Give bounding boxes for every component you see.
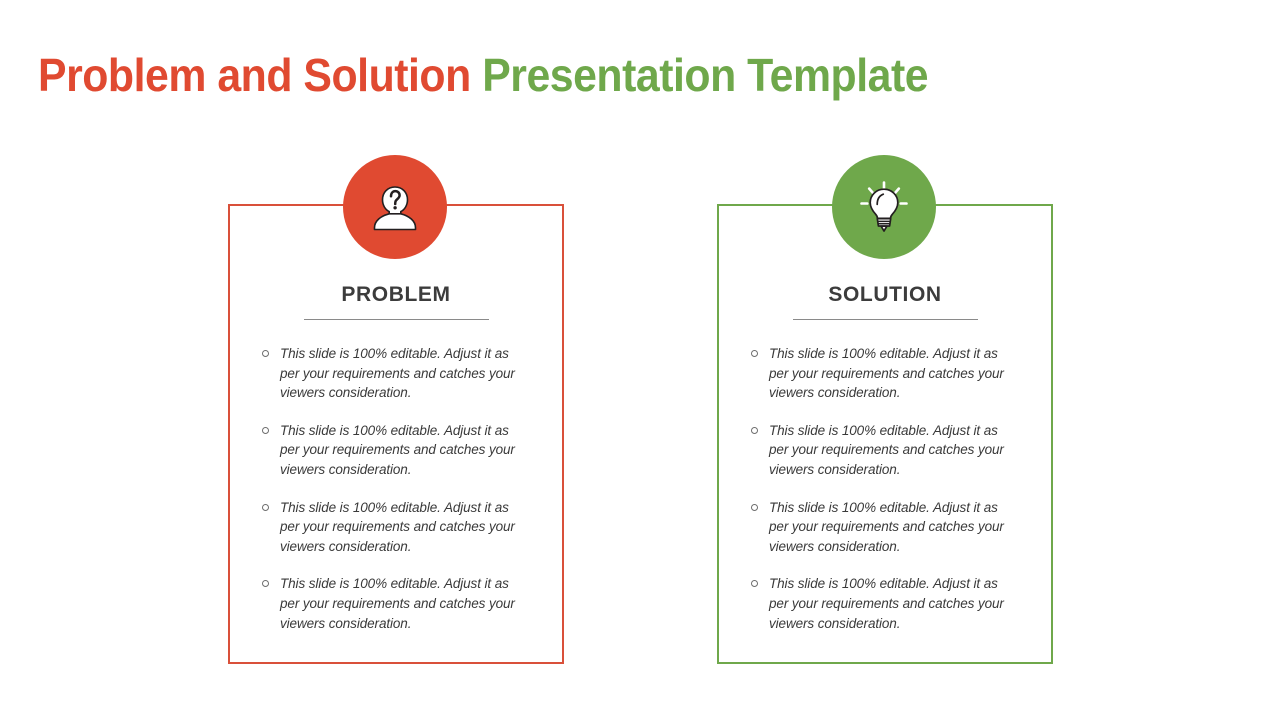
bullet-ring-icon [751, 504, 758, 511]
badge-solution [832, 155, 936, 259]
badge-problem [343, 155, 447, 259]
presentation-slide: Problem and Solution Presentation Templa… [0, 0, 1280, 720]
heading-rule-solution [793, 319, 978, 320]
list-item: This slide is 100% editable. Adjust it a… [262, 344, 520, 403]
person-question-icon [364, 176, 426, 238]
list-item-text: This slide is 100% editable. Adjust it a… [769, 423, 1004, 477]
bullet-ring-icon [262, 350, 269, 357]
list-item-text: This slide is 100% editable. Adjust it a… [769, 576, 1004, 630]
bullet-ring-icon [751, 350, 758, 357]
list-item-text: This slide is 100% editable. Adjust it a… [280, 500, 515, 554]
bullet-ring-icon [751, 427, 758, 434]
list-item: This slide is 100% editable. Adjust it a… [751, 498, 1009, 557]
list-item-text: This slide is 100% editable. Adjust it a… [769, 500, 1004, 554]
bullet-ring-icon [262, 504, 269, 511]
bullet-list-solution: This slide is 100% editable. Adjust it a… [717, 344, 1053, 633]
bullet-ring-icon [751, 580, 758, 587]
lightbulb-icon [853, 176, 915, 238]
bullet-ring-icon [262, 580, 269, 587]
bullet-list-problem: This slide is 100% editable. Adjust it a… [228, 344, 564, 633]
list-item-text: This slide is 100% editable. Adjust it a… [280, 576, 515, 630]
list-item: This slide is 100% editable. Adjust it a… [262, 574, 520, 633]
list-item-text: This slide is 100% editable. Adjust it a… [769, 346, 1004, 400]
list-item: This slide is 100% editable. Adjust it a… [262, 498, 520, 557]
page-title-emphasis-problem: Problem and Solution [38, 49, 482, 101]
list-item: This slide is 100% editable. Adjust it a… [751, 344, 1009, 403]
column-solution: SOLUTION This slide is 100% editable. Ad… [717, 282, 1053, 633]
list-item: This slide is 100% editable. Adjust it a… [751, 574, 1009, 633]
list-item: This slide is 100% editable. Adjust it a… [751, 421, 1009, 480]
bullet-ring-icon [262, 427, 269, 434]
list-item: This slide is 100% editable. Adjust it a… [262, 421, 520, 480]
heading-rule-problem [304, 319, 489, 320]
list-item-text: This slide is 100% editable. Adjust it a… [280, 346, 515, 400]
list-item-text: This slide is 100% editable. Adjust it a… [280, 423, 515, 477]
column-problem: PROBLEM This slide is 100% editable. Adj… [228, 282, 564, 633]
column-heading-problem: PROBLEM [228, 282, 564, 308]
column-heading-solution: SOLUTION [717, 282, 1053, 308]
page-title: Problem and Solution Presentation Templa… [38, 46, 928, 104]
page-title-emphasis-solution: Presentation Template [482, 49, 928, 101]
